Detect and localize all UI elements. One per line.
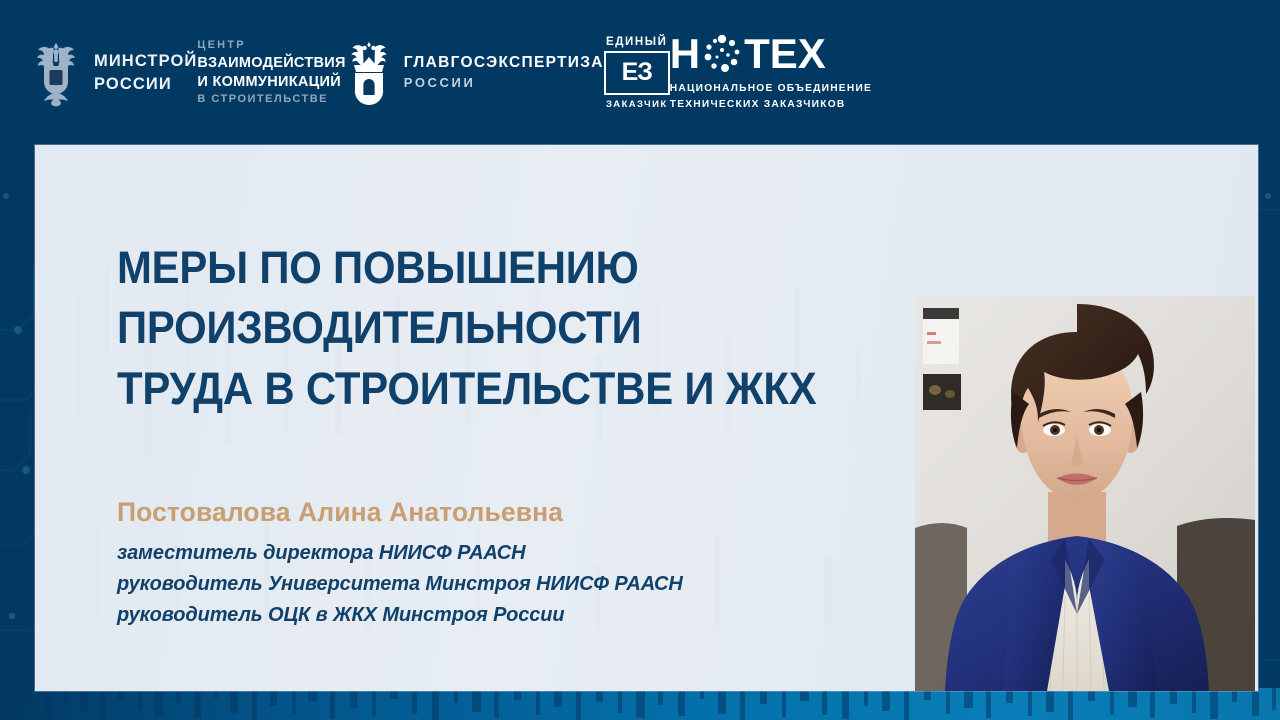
title-card: МЕРЫ ПО ПОВЫШЕНИЮ ПРОИЗВОДИТЕЛЬНОСТИ ТРУ…	[35, 145, 1258, 691]
logo-centr-line3: И КОММУНИКАЦИЙ	[197, 73, 345, 92]
logo-notekh-wordmark: H	[670, 33, 826, 75]
logo-notekh-letters-tex: TEX	[744, 34, 826, 74]
logo-notekh: H	[670, 33, 872, 113]
speaker-name: Постовалова Алина Анатольевна	[117, 497, 837, 529]
logo-glavgos-line2: РОССИИ	[404, 74, 604, 93]
logo-ez-top-text: ЕДИНЫЙ	[606, 36, 668, 48]
logo-glavgosekspertiza-text: ГЛАВГОСЭКСПЕРТИЗА РОССИИ	[404, 52, 604, 93]
russian-double-headed-eagle-icon	[30, 38, 82, 108]
logo-minstroy-line2: РОССИИ	[94, 73, 197, 95]
logo-minstroy-text: МИНСТРОЙ РОССИИ	[94, 50, 197, 95]
glavgosekspertiza-emblem-icon	[346, 39, 392, 107]
bar-pattern-footer	[0, 688, 1280, 720]
logo-notekh-sub1: НАЦИОНАЛЬНОЕ ОБЪЕДИНЕНИЕ	[670, 81, 872, 97]
logo-edinyy-zakazchik: ЕДИНЫЙ ЕЗ ЗАКАЗЧИК	[604, 36, 670, 110]
logo-centr-line1: ЦЕНТР	[197, 37, 345, 54]
speaker-block: Постовалова Алина Анатольевна заместител…	[117, 497, 837, 631]
logo-centr-line4: В СТРОИТЕЛЬСТВЕ	[197, 91, 345, 108]
logo-centr-line2: ВЗАИМОДЕЙСТВИЯ	[197, 54, 345, 73]
speaker-portrait	[915, 296, 1255, 691]
logo-glavgosekspertiza: ГЛАВГОСЭКСПЕРТИЗА РОССИИ	[346, 39, 604, 107]
logo-glavgos-line1: ГЛАВГОСЭКСПЕРТИЗА	[404, 52, 604, 74]
logo-notekh-letter-h: H	[670, 34, 700, 74]
partner-logo-bar: МИНСТРОЙ РОССИИ ЦЕНТР ВЗАИМОДЕЙСТВИЯ И К…	[0, 0, 1280, 145]
logo-notekh-sub2: ТЕХНИЧЕСКИХ ЗАКАЗЧИКОВ	[670, 97, 846, 113]
speaker-role-line-2: руководитель Университета Минстроя НИИСФ…	[117, 569, 837, 600]
logo-centr-vzaimodeystviya: ЦЕНТР ВЗАИМОДЕЙСТВИЯ И КОММУНИКАЦИЙ В СТ…	[197, 37, 345, 107]
dot-cluster-o-icon	[701, 33, 743, 75]
speaker-role-line-1: заместитель директора НИИСФ РААСН	[117, 538, 837, 569]
logo-ez-bottom-text: ЗАКАЗЧИК	[606, 99, 668, 110]
logo-minstroy-rossii: МИНСТРОЙ РОССИИ	[30, 38, 197, 108]
presentation-slide: МИНСТРОЙ РОССИИ ЦЕНТР ВЗАИМОДЕЙСТВИЯ И К…	[0, 0, 1280, 720]
logo-minstroy-line1: МИНСТРОЙ	[94, 50, 197, 72]
logo-ez-monogram: ЕЗ	[604, 51, 670, 95]
speaker-role-line-3: руководитель ОЦК в ЖКХ Минстроя России	[117, 600, 837, 631]
